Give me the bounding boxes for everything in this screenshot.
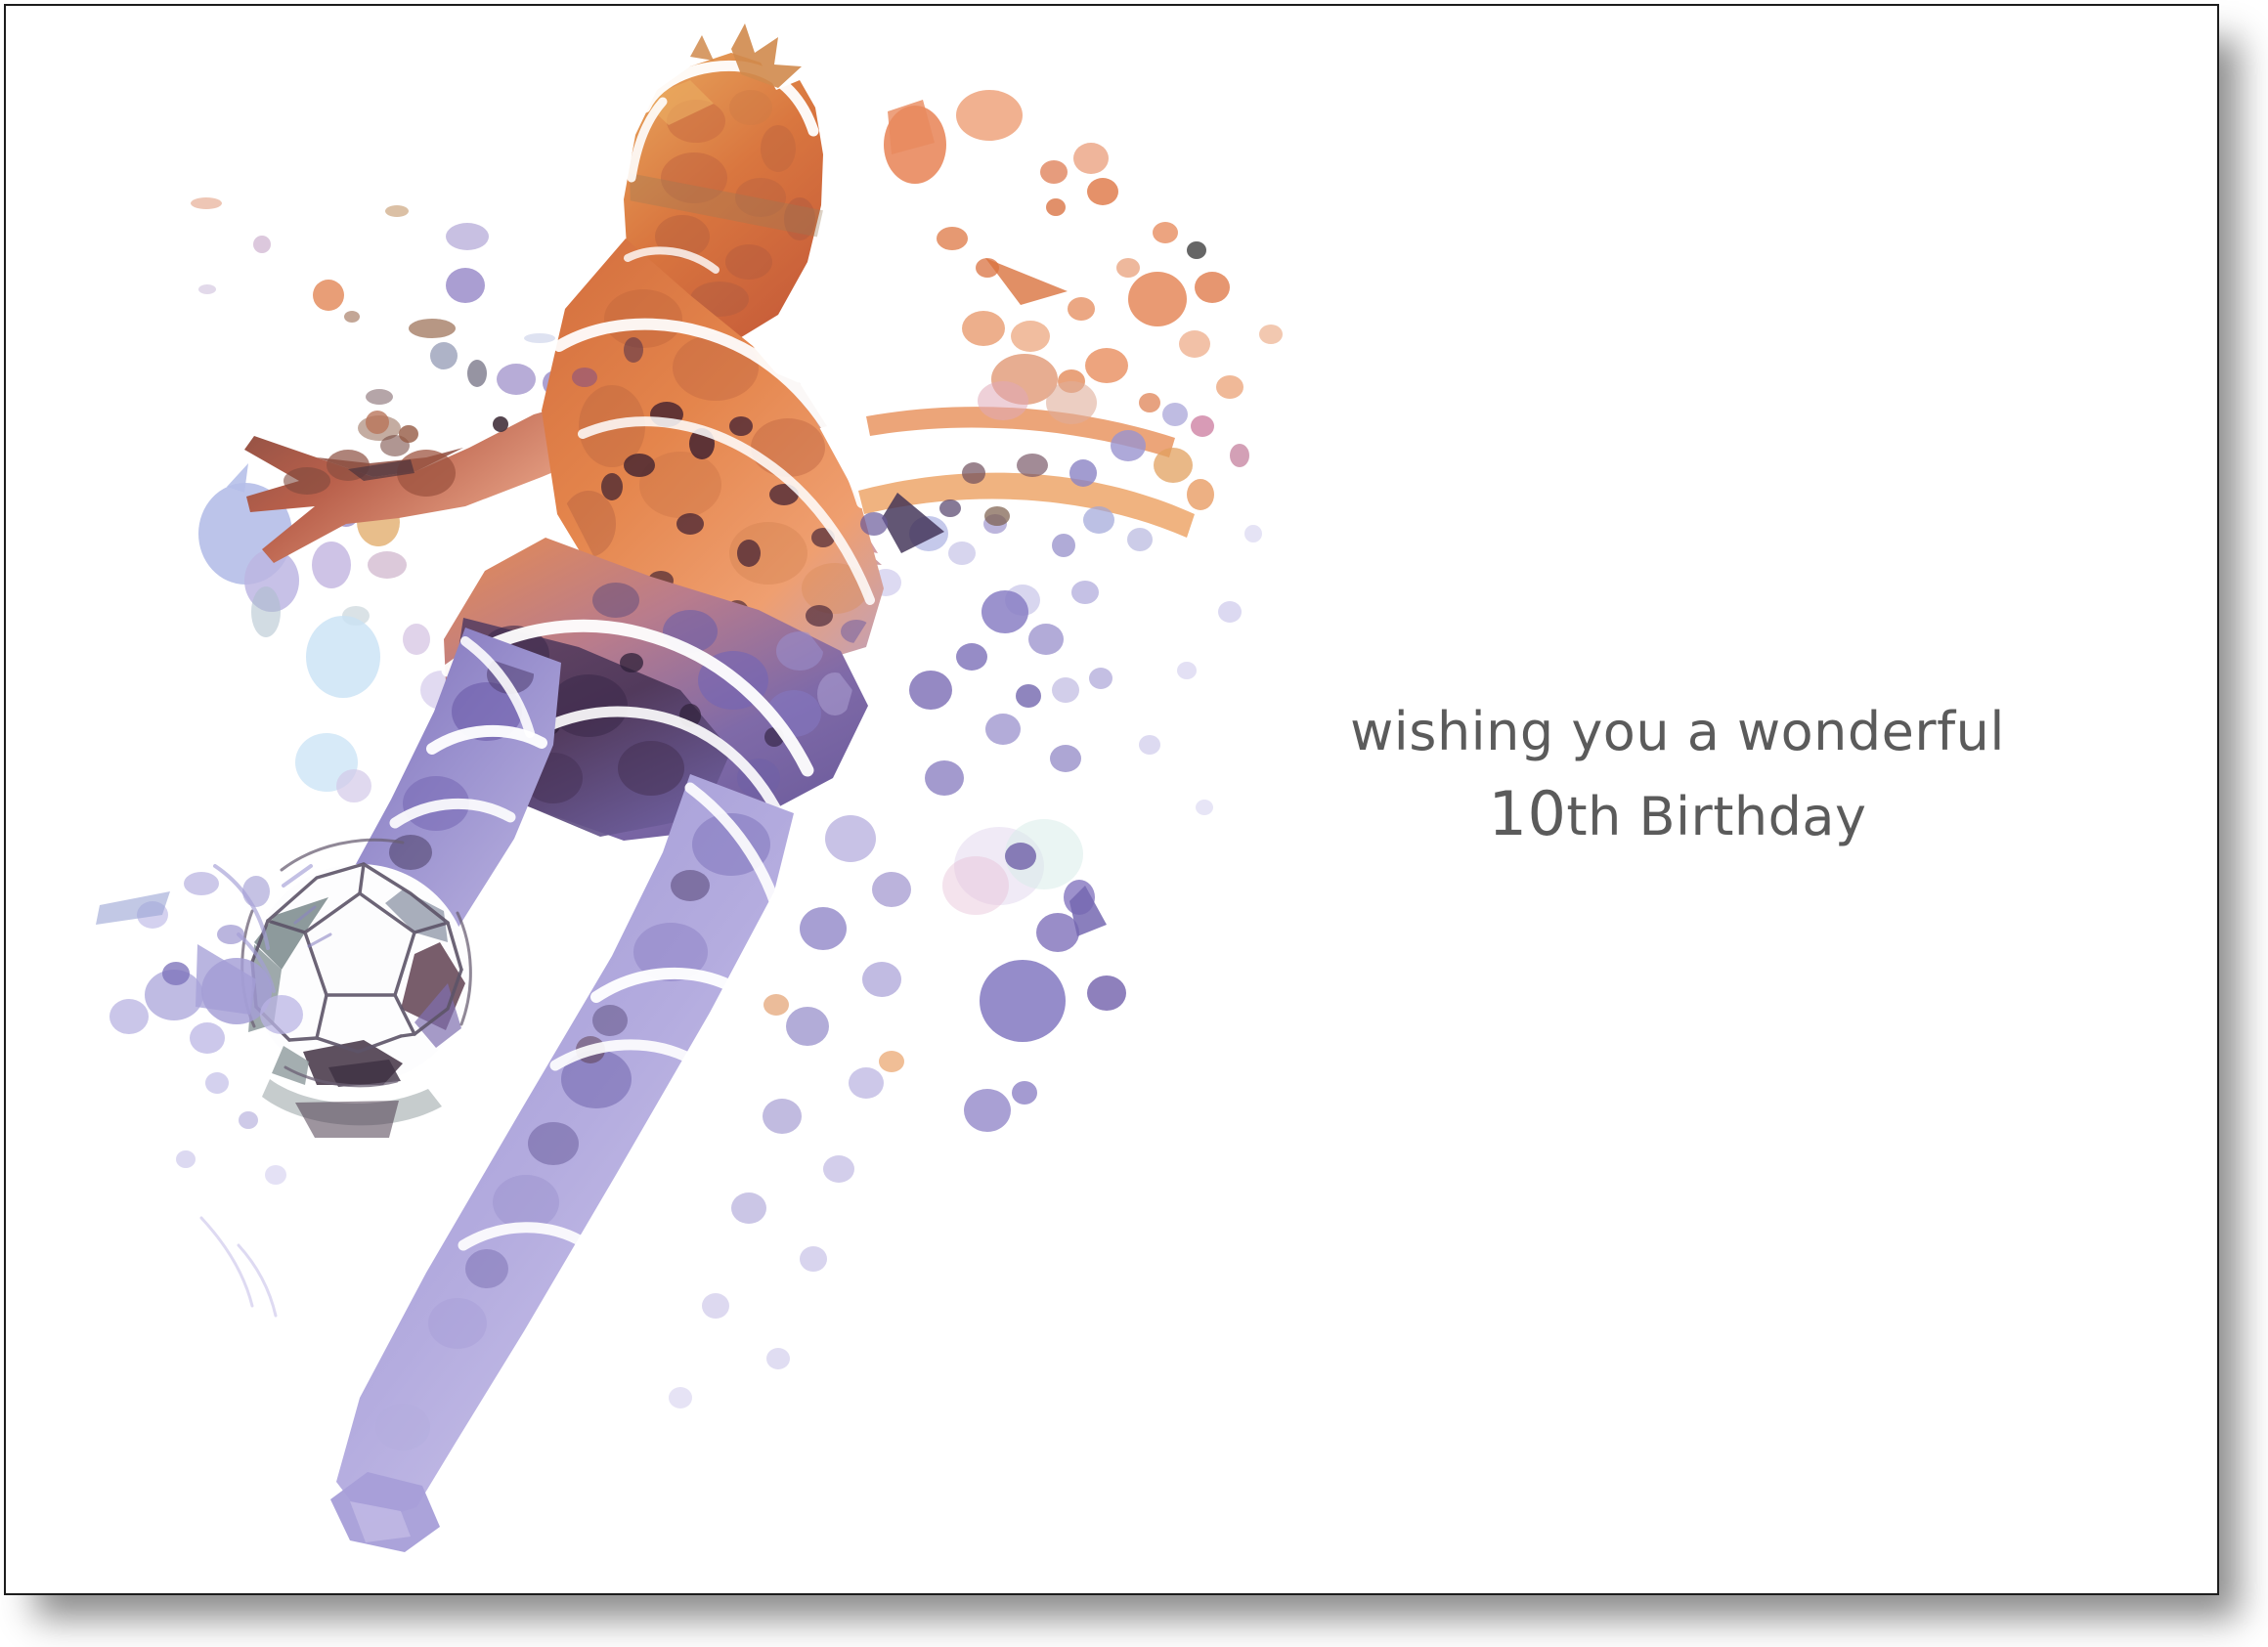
greeting-line-1: wishing you a wonderful <box>1306 706 2049 758</box>
age-number: 10 <box>1489 778 1567 849</box>
age-suffix: th Birthday <box>1566 786 1866 847</box>
screenshot-canvas: wishing you a wonderful 10th Birthday <box>0 0 2268 1647</box>
greeting-message: wishing you a wonderful 10th Birthday <box>1306 706 2049 845</box>
soccer-player-artwork <box>6 6 1335 1593</box>
greeting-card: wishing you a wonderful 10th Birthday <box>4 4 2219 1595</box>
greeting-line-2: 10th Birthday <box>1306 784 2049 845</box>
